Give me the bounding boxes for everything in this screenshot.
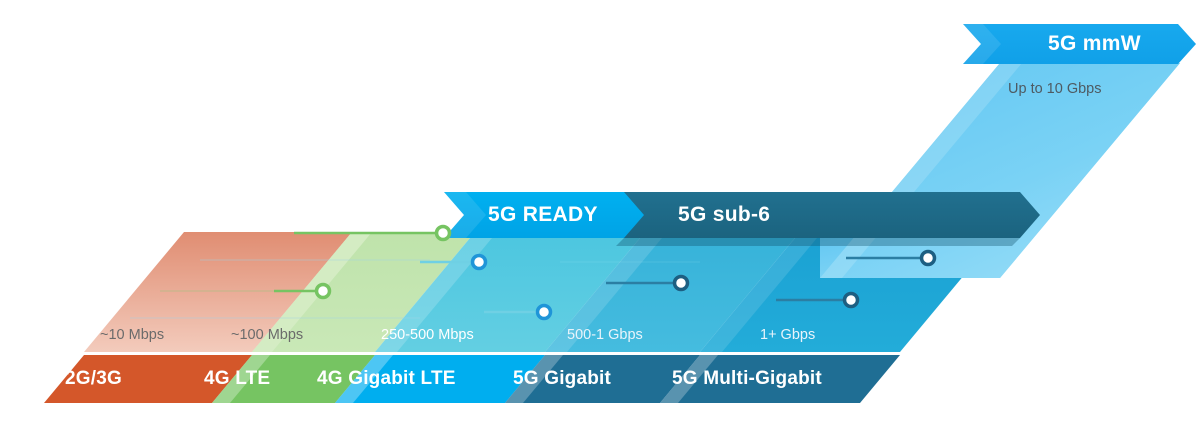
marker-5g-sub6-dot: [675, 277, 688, 290]
banner-5g-sub6-shadow: [616, 238, 1020, 246]
infographic-5g-speed-progression: 5G READY 5G sub-6 5G mmW Up to 10 Gbps ~…: [0, 0, 1200, 424]
marker-4g-lte-dot: [317, 285, 330, 298]
banner-5g-sub6-shape: [604, 192, 1040, 238]
marker-5g-mmw-dot: [922, 252, 935, 265]
marker-4g-gigabit-lte-dot: [437, 227, 450, 240]
infographic-artwork: [0, 0, 1200, 424]
marker-5g-ready-low-dot: [473, 256, 486, 269]
banner-5g-mmw-group: [963, 24, 1196, 64]
marker-5g-gigabit-dot: [538, 306, 551, 319]
banner-strip: [444, 192, 1040, 246]
tier-name-bar: [44, 355, 900, 403]
marker-5g-multi-gigabit-dot: [845, 294, 858, 307]
